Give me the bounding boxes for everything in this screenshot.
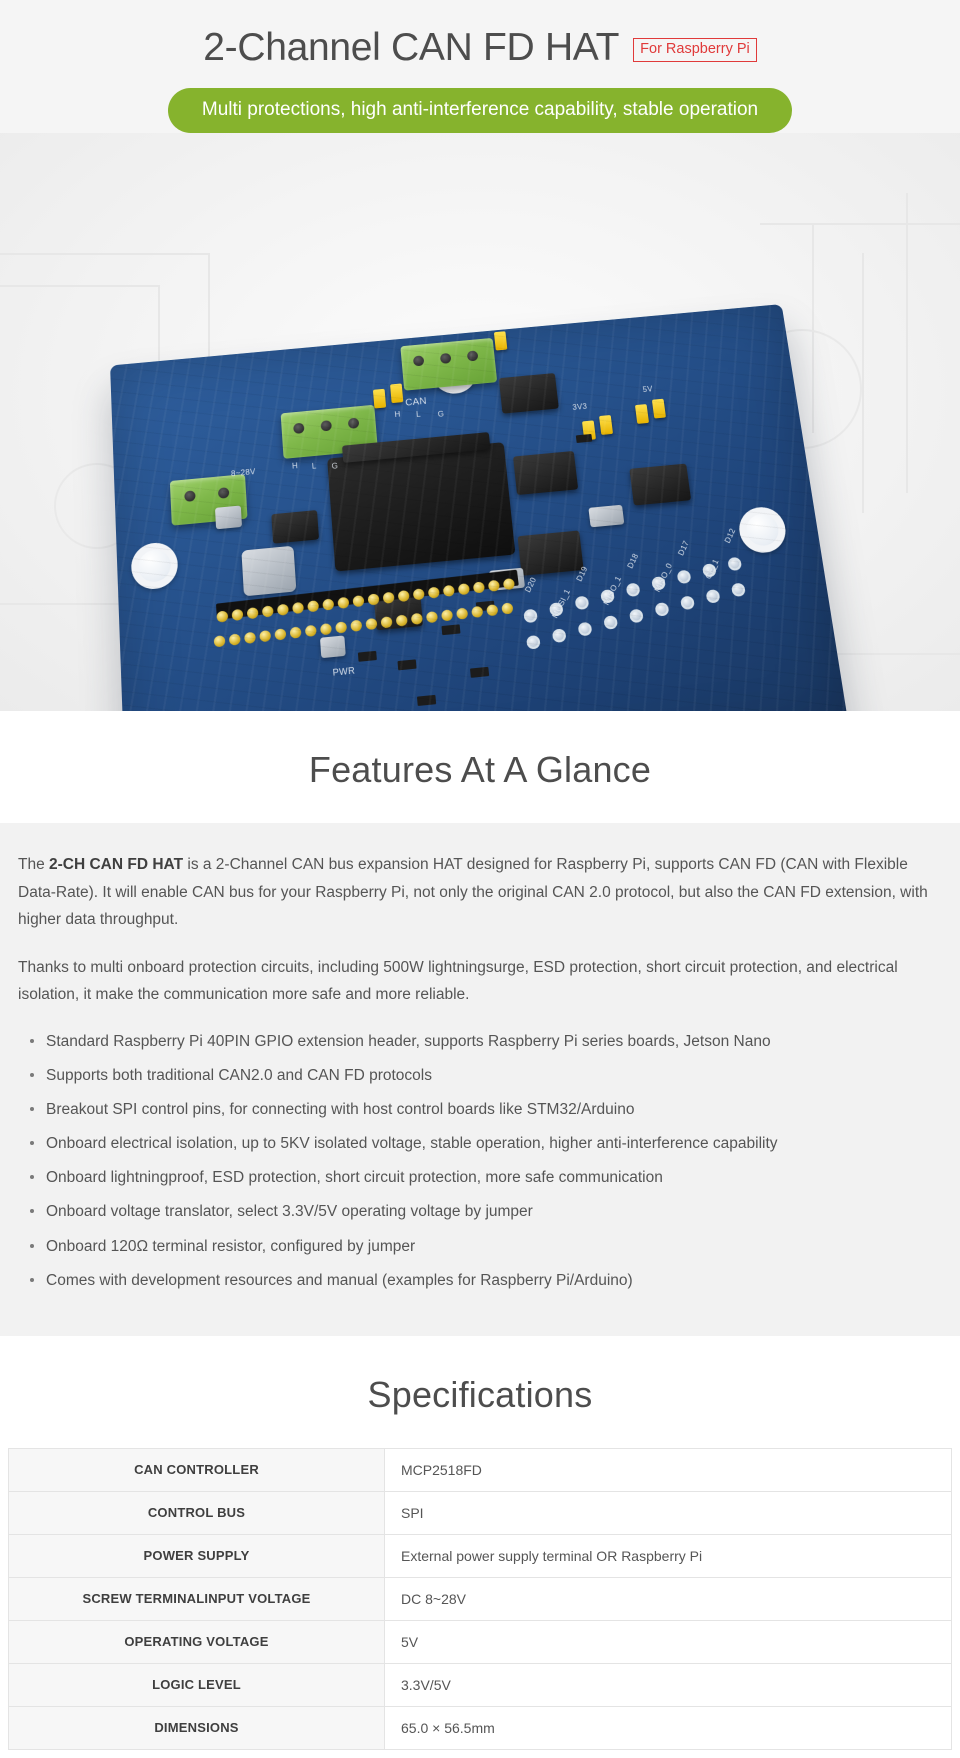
silk-g-label-2: G xyxy=(331,461,338,470)
breakout-pad xyxy=(626,583,641,597)
jumper-cap xyxy=(652,399,666,419)
gpio-pin xyxy=(473,581,485,593)
breakout-pad xyxy=(549,602,564,616)
ic-small xyxy=(374,596,423,631)
gpio-pin xyxy=(486,604,498,616)
specs-heading-block: Specifications xyxy=(0,1336,960,1448)
pcb-board: CAN H L G H L G 8~28V PWR 3V3 5V D20 D19… xyxy=(96,283,866,711)
silk-pin-label: MOSI_1 xyxy=(550,587,572,619)
ic-transceiver xyxy=(499,373,559,414)
product-page: 2-Channel CAN FD HAT For Raspberry Pi Mu… xyxy=(0,0,960,1758)
compatibility-badge: For Raspberry Pi xyxy=(633,38,757,62)
list-item: Onboard voltage translator, select 3.3V/… xyxy=(18,1199,942,1224)
breakout-pad xyxy=(526,635,541,650)
specifications-table: CAN CONTROLLER MCP2518FD CONTROL BUS SPI… xyxy=(8,1448,952,1750)
list-item: Standard Raspberry Pi 40PIN GPIO extensi… xyxy=(18,1029,942,1054)
breakout-pad xyxy=(655,602,670,616)
spec-label: POWER SUPPLY xyxy=(9,1534,385,1577)
list-item: Onboard 120Ω terminal resistor, configur… xyxy=(18,1234,942,1259)
spec-value: 5V xyxy=(385,1620,952,1663)
gpio-pin xyxy=(290,626,302,638)
smd-resistor xyxy=(417,695,436,706)
gpio-pin xyxy=(305,625,317,637)
spec-value: SPI xyxy=(385,1491,952,1534)
jumper-cap xyxy=(494,331,507,350)
table-row: OPERATING VOLTAGE 5V xyxy=(9,1620,952,1663)
list-item: Comes with development resources and man… xyxy=(18,1268,942,1293)
silk-pwr-label: PWR xyxy=(332,665,355,677)
features-paragraph-1: The 2-CH CAN FD HAT is a 2-Channel CAN b… xyxy=(18,851,942,934)
bg-trace xyxy=(760,223,960,225)
jumper-cap xyxy=(582,420,596,440)
silk-pin-label: MISO_0 xyxy=(653,562,674,594)
silk-pin-label: D19 xyxy=(575,565,590,583)
table-row: DIMENSIONS 65.0 × 56.5mm xyxy=(9,1706,952,1749)
silk-l-label: L xyxy=(416,410,421,419)
gpio-pin xyxy=(320,623,332,635)
screw-terminal-can0 xyxy=(281,405,378,459)
gpio-pin xyxy=(396,614,408,626)
smd-resistor xyxy=(327,591,346,602)
features-heading: Features At A Glance xyxy=(0,749,960,791)
ic-can-controller xyxy=(513,451,578,495)
gpio-pin xyxy=(229,633,241,645)
table-row: SCREW TERMINALINPUT VOLTAGE DC 8~28V xyxy=(9,1577,952,1620)
gpio-pin xyxy=(244,632,256,644)
gpio-pin xyxy=(277,604,289,616)
gpio-pin xyxy=(428,587,440,599)
list-item: Breakout SPI control pins, for connectin… xyxy=(18,1097,942,1122)
smd-resistor xyxy=(470,667,489,678)
mounting-hole xyxy=(131,541,179,591)
mounting-hole xyxy=(736,505,788,554)
list-item: Onboard lightningproof, ESD protection, … xyxy=(18,1165,942,1190)
ic-level-shifter xyxy=(629,464,691,506)
silk-l-label-2: L xyxy=(312,462,317,471)
breakout-pad xyxy=(552,628,567,642)
silk-can-label: CAN xyxy=(405,396,427,408)
gpio-pin xyxy=(307,600,319,612)
inductor xyxy=(241,546,296,597)
product-photo: CAN H L G H L G 8~28V PWR 3V3 5V D20 D19… xyxy=(0,133,960,711)
breakout-pad xyxy=(702,563,717,577)
gpio-pin xyxy=(368,593,380,605)
smd-resistor xyxy=(397,659,416,670)
gpio-pin xyxy=(292,602,304,614)
bg-trace xyxy=(0,253,210,255)
breakout-pad xyxy=(523,609,537,623)
specs-table-wrap: CAN CONTROLLER MCP2518FD CONTROL BUS SPI… xyxy=(0,1448,960,1758)
gpio-pin-row xyxy=(216,578,515,623)
gpio-pin xyxy=(216,610,228,622)
breakout-pad xyxy=(680,596,695,610)
silk-voltage-label: 8~28V xyxy=(231,467,256,478)
spec-value: External power supply terminal OR Raspbe… xyxy=(385,1534,952,1577)
crystal-oscillator xyxy=(489,568,525,591)
gpio-pin xyxy=(350,620,362,632)
page-title: 2-Channel CAN FD HAT xyxy=(203,28,619,67)
isolation-module xyxy=(327,442,515,571)
mounting-hole xyxy=(430,349,479,396)
gpio-pin xyxy=(471,606,483,618)
breakout-pad xyxy=(578,622,593,636)
jumper-cap xyxy=(599,415,613,435)
capacitor xyxy=(320,635,346,658)
spec-label: SCREW TERMINALINPUT VOLTAGE xyxy=(9,1577,385,1620)
table-row: POWER SUPPLY External power supply termi… xyxy=(9,1534,952,1577)
features-list: Standard Raspberry Pi 40PIN GPIO extensi… xyxy=(18,1029,942,1293)
silk-h-label: H xyxy=(394,410,401,419)
product-name-bold: 2-CH CAN FD HAT xyxy=(49,856,183,873)
spec-label: OPERATING VOLTAGE xyxy=(9,1620,385,1663)
spec-label: DIMENSIONS xyxy=(9,1706,385,1749)
gpio-pin xyxy=(337,597,349,609)
smd-resistor xyxy=(358,651,377,662)
breakout-pad xyxy=(731,583,746,597)
spec-label: CAN CONTROLLER xyxy=(9,1448,385,1491)
gpio-pin-row xyxy=(214,602,514,647)
silk-3v3-label: 3V3 xyxy=(572,402,588,412)
gpio-pin xyxy=(247,607,259,619)
gpio-pin xyxy=(398,590,410,602)
smd-resistor xyxy=(576,434,593,443)
spec-label: CONTROL BUS xyxy=(9,1491,385,1534)
gpio-pin xyxy=(443,585,455,597)
silk-pin-label: D12 xyxy=(723,527,738,545)
smd-resistor xyxy=(441,624,460,635)
silk-g-label: G xyxy=(437,410,444,419)
gpio-pin xyxy=(456,608,468,620)
gpio-pin xyxy=(503,578,515,590)
capacitor xyxy=(215,505,242,529)
breakout-pad xyxy=(651,576,666,590)
gpio-pin xyxy=(413,588,425,600)
gpio-pin xyxy=(335,621,347,633)
gpio-pin xyxy=(380,616,392,628)
breakout-pad xyxy=(706,589,721,603)
breakout-pad xyxy=(575,596,590,610)
features-heading-block: Features At A Glance xyxy=(0,711,960,823)
breakout-pad xyxy=(727,557,742,571)
jumper-cap xyxy=(373,389,386,409)
spec-value: DC 8~28V xyxy=(385,1577,952,1620)
gpio-pin xyxy=(214,635,226,647)
gpio-pin xyxy=(501,602,513,614)
spec-label: LOGIC LEVEL xyxy=(9,1663,385,1706)
gpio-pin xyxy=(262,605,274,617)
breakout-pad xyxy=(629,609,644,623)
silk-5v-label: 5V xyxy=(642,385,653,394)
tagline-banner: Multi protections, high anti-interferenc… xyxy=(168,88,792,133)
spec-value: MCP2518FD xyxy=(385,1448,952,1491)
specs-heading: Specifications xyxy=(0,1374,960,1416)
spec-value: 3.3V/5V xyxy=(385,1663,952,1706)
table-row: CAN CONTROLLER MCP2518FD xyxy=(9,1448,952,1491)
table-row: LOGIC LEVEL 3.3V/5V xyxy=(9,1663,952,1706)
gpio-pin xyxy=(322,598,334,610)
paragraph-1-lead: The xyxy=(18,856,49,873)
gpio-pin xyxy=(352,595,364,607)
isolation-module-top xyxy=(342,432,490,463)
list-item: Onboard electrical isolation, up to 5KV … xyxy=(18,1131,942,1156)
ic-regulator xyxy=(271,510,319,544)
hero-title-row: 2-Channel CAN FD HAT For Raspberry Pi xyxy=(0,18,960,76)
gpio-pin xyxy=(383,592,395,604)
gpio-pin xyxy=(488,580,500,592)
silk-h-label-2: H xyxy=(292,461,299,470)
hero-banner-wrap: Multi protections, high anti-interferenc… xyxy=(0,88,960,133)
silk-pin-label: CE_1 xyxy=(704,558,721,581)
silk-pin-label: D20 xyxy=(523,576,538,594)
gpio-pin xyxy=(458,583,470,595)
breakout-pad xyxy=(603,615,618,629)
gpio-pin xyxy=(411,613,423,625)
jumper-cap xyxy=(390,383,403,403)
features-paragraph-2: Thanks to multi onboard protection circu… xyxy=(18,954,942,1009)
smd-resistor xyxy=(476,601,495,612)
screw-terminal-can1 xyxy=(400,338,497,391)
gpio-pin xyxy=(274,628,286,640)
spec-value: 65.0 × 56.5mm xyxy=(385,1706,952,1749)
gpio-pin xyxy=(365,618,377,630)
breakout-pad xyxy=(600,589,615,603)
jumper-cap xyxy=(635,404,649,424)
gpio-pin xyxy=(426,611,438,623)
bg-trace xyxy=(906,193,908,493)
silk-pin-label: D18 xyxy=(626,552,641,570)
features-section: The 2-CH CAN FD HAT is a 2-Channel CAN b… xyxy=(0,823,960,1336)
gpio-header xyxy=(216,570,519,620)
silk-pin-label: MISO_1 xyxy=(602,574,624,606)
pcb-substrate: CAN H L G H L G 8~28V PWR 3V3 5V D20 D19… xyxy=(110,304,850,711)
silk-pin-label: D17 xyxy=(676,539,691,557)
gpio-pin xyxy=(441,609,453,621)
table-row: CONTROL BUS SPI xyxy=(9,1491,952,1534)
ic-can-controller xyxy=(518,530,584,575)
screw-terminal-power xyxy=(170,474,248,526)
breakout-pad xyxy=(677,570,692,584)
list-item: Supports both traditional CAN2.0 and CAN… xyxy=(18,1063,942,1088)
gpio-pin xyxy=(259,630,271,642)
hero-section: 2-Channel CAN FD HAT For Raspberry Pi Mu… xyxy=(0,0,960,711)
gpio-pin xyxy=(232,609,244,621)
crystal-oscillator xyxy=(588,505,624,528)
